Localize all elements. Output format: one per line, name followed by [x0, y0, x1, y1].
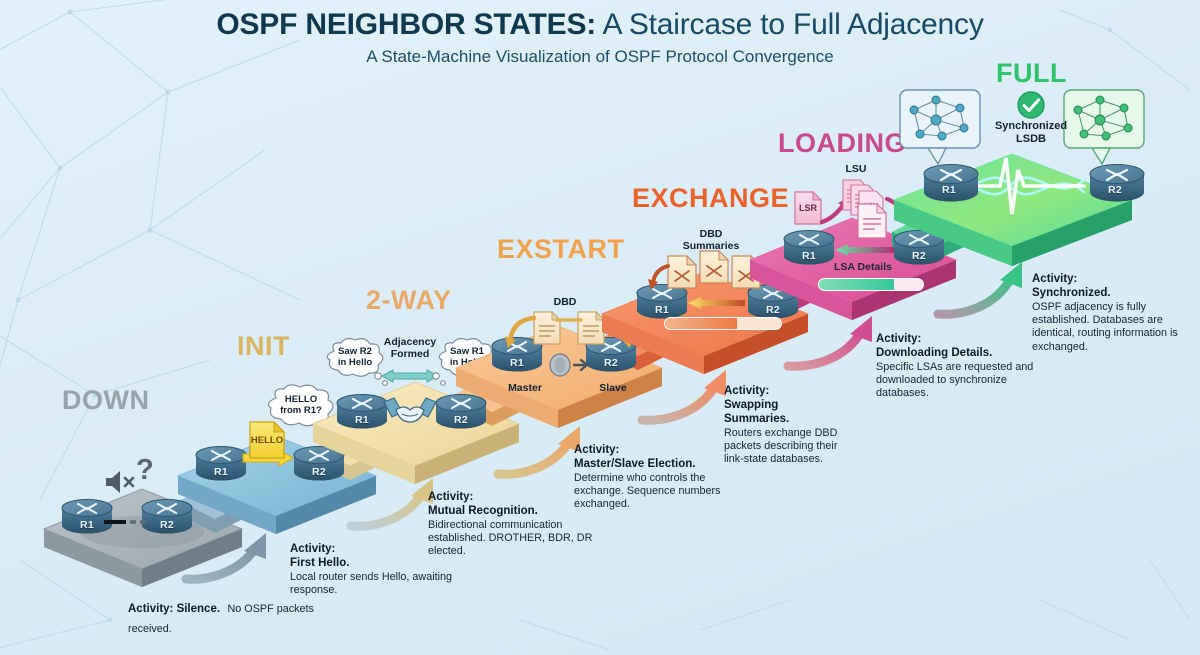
- title-lead: OSPF NEIGHBOR STATES:: [216, 8, 596, 41]
- lsr-packet-label: LSR: [793, 190, 823, 226]
- dbd-summary-arrow-left-icon: [648, 262, 672, 292]
- activity-loading: Activity: Downloading Details. Specific …: [876, 332, 1036, 401]
- state-label-down: DOWN: [62, 385, 149, 416]
- state-label-exstart: EXSTART: [497, 234, 625, 265]
- thought-bubble-tail-icon: [432, 372, 450, 388]
- activity-heading: Activity: Silence.: [128, 603, 220, 615]
- router-r2-full: R2: [1086, 160, 1144, 200]
- activity-body: Specific LSAs are requested and download…: [876, 361, 1036, 401]
- dbd-link-icon: [556, 314, 582, 326]
- page-title: OSPF NEIGHBOR STATES: A Staircase to Ful…: [0, 8, 1200, 42]
- activity-heading-line2: Downloading Details.: [876, 346, 1036, 360]
- state-label-twoway: 2-WAY: [366, 285, 452, 316]
- activity-exchange: Activity: Swapping Summaries. Routers ex…: [724, 384, 852, 467]
- lsa-transfer-arrow-icon: [833, 243, 895, 257]
- thought-bubble-tail-icon: [374, 372, 392, 388]
- exchange-progress-fill: [665, 318, 737, 329]
- activity-heading-line2: Swapping: [724, 398, 852, 412]
- activity-heading-line1: Activity:: [876, 332, 1036, 346]
- state-label-loading: LOADING: [778, 128, 906, 159]
- lsr-packet-icon: LSR: [793, 190, 823, 226]
- caption-lsu: LSU: [836, 163, 876, 175]
- state-label-exchange: EXCHANGE: [632, 183, 789, 214]
- router-label: R1: [192, 466, 250, 478]
- role-label-master: Master: [497, 382, 553, 394]
- activity-heading-line1: Activity:: [724, 384, 852, 398]
- activity-body: OSPF adjacency is fully established. Dat…: [1032, 301, 1184, 354]
- router-label: R1: [920, 184, 978, 196]
- state-label-init: INIT: [237, 331, 290, 362]
- router-r1-loading: R1: [780, 226, 838, 266]
- question-mark-icon: ?: [136, 456, 154, 485]
- router-r1-full: R1: [920, 160, 978, 200]
- title-rest: A Staircase to Full Adjacency: [596, 8, 984, 41]
- lsdb-graph-bubble-left: [898, 88, 982, 166]
- activity-body: Local router sends Hello, awaiting respo…: [290, 571, 470, 597]
- activity-body: Bidirectional communication established.…: [428, 519, 610, 559]
- router-r1-init: R1: [192, 442, 250, 482]
- dbd-summary-doc-2: [698, 249, 730, 285]
- activity-down: Activity: Silence. No OSPF packets recei…: [128, 598, 328, 637]
- router-label: R1: [488, 357, 546, 369]
- router-label: R2: [1086, 184, 1144, 196]
- loading-progress-bar: [818, 278, 924, 291]
- activity-heading-line1: Activity:: [1032, 272, 1184, 286]
- activity-body: Determine who controls the exchange. Seq…: [574, 472, 744, 512]
- check-circle-icon: [1016, 90, 1046, 120]
- dbd-arrow-left-icon: [504, 316, 538, 350]
- activity-heading-line2: Synchronized.: [1032, 286, 1184, 300]
- loading-progress-fill: [819, 279, 894, 290]
- role-label-slave: Slave: [588, 382, 638, 394]
- broken-link-icon: [104, 515, 152, 529]
- activity-exstart: Activity: Master/Slave Election. Determi…: [574, 443, 744, 512]
- activity-full: Activity: Synchronized. OSPF adjacency i…: [1032, 272, 1184, 354]
- activity-heading-line3: Summaries.: [724, 412, 852, 426]
- dbd-transfer-arrow-icon: [686, 296, 746, 310]
- caption-synchronized-lsdb: SynchronizedLSDB: [984, 120, 1078, 145]
- activity-body: Routers exchange DBD packets describing …: [724, 427, 852, 467]
- activity-heading-line1: Activity:: [574, 443, 744, 457]
- state-label-full: FULL: [996, 58, 1067, 89]
- activity-heading-line2: Master/Slave Election.: [574, 457, 744, 471]
- handshake-icon: [382, 392, 438, 430]
- router-label: R1: [633, 304, 691, 316]
- coin-flip-icon: [548, 353, 594, 377]
- caption-dbd: DBD: [545, 296, 585, 308]
